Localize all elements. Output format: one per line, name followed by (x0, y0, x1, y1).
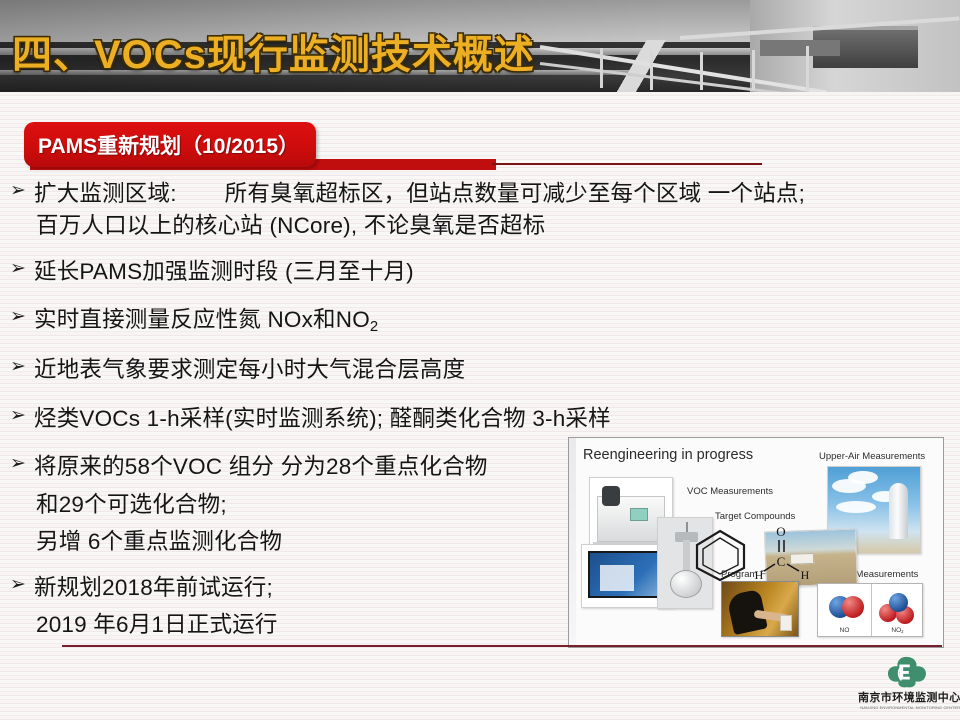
bullet-6-continuation-2: 另增 6个重点监测化合物 (0, 526, 282, 557)
nitrogen-atom (889, 593, 908, 612)
bullet-item-2: ➢ 延长PAMS加强监测时段 (三月至十月) (0, 256, 414, 287)
bullet-arrow-icon: ➢ (0, 572, 34, 598)
bullet-item-7: ➢ 新规划2018年前试运行; (0, 572, 273, 603)
embedded-title: Reengineering in progress (583, 447, 753, 463)
benzene-ring-icon (689, 528, 751, 582)
bullet-text-3: 实时直接测量反应性氮 NOx和NO2 (34, 304, 378, 335)
flexibility-vial (780, 615, 792, 631)
bullet-1-detail: 所有臭氧超标区，但站点数量可减少至每个区域 一个站点; (225, 181, 805, 206)
target-compound-structures: O C H H (687, 524, 817, 582)
footer-rule (62, 645, 942, 647)
bullet-7-continuation-1: 2019 年6月1日正式运行 (0, 609, 278, 640)
bullet-arrow-icon: ➢ (0, 256, 34, 282)
bullet-text-4: 近地表气象要求测定每小时大气混合层高度 (34, 354, 465, 385)
logo-name-cn: 南京市环境监测中心站 (858, 689, 954, 705)
bullet-text-7: 新规划2018年前试运行; (34, 572, 273, 603)
slide-canvas: 四、VOCs现行监测技术概述 PAMS重新规划（10/2015） ➢ 扩大监测区… (0, 0, 960, 720)
formaldehyde-c: C (777, 554, 786, 569)
bullet-arrow-icon: ➢ (0, 354, 34, 380)
embedded-label-upper-air: Upper-Air Measurements (819, 451, 925, 462)
bullet-arrow-icon: ➢ (0, 178, 34, 204)
cloud-shape (848, 471, 878, 484)
leaf-e-logo-icon (858, 655, 954, 689)
photo-program-flexibility (721, 581, 799, 637)
upper-air-profiler (889, 483, 908, 539)
formaldehyde-h-right: H (801, 568, 810, 580)
formaldehyde-h-left: H (755, 568, 764, 580)
bullet-item-4: ➢ 近地表气象要求测定每小时大气混合层高度 (0, 354, 465, 385)
page-title: 四、VOCs现行监测技术概述 (12, 22, 535, 80)
molecule-label-no2: NO2 (871, 627, 924, 634)
heading-badge-label: PAMS重新规划（10/2015） (24, 130, 299, 160)
gc-knob (602, 486, 620, 506)
section-heading: PAMS重新规划（10/2015） (0, 122, 960, 178)
formaldehyde-structure-icon: O C H H (753, 524, 817, 580)
embedded-slide-image: Reengineering in progress VOC Measuremen… (568, 437, 944, 648)
embedded-left-band (569, 438, 576, 647)
bullet-item-6: ➢ 将原来的58个VOC 组分 分为28个重点化合物 (0, 451, 488, 482)
bullet-1-label: 扩大监测区域: (34, 181, 177, 206)
formaldehyde-o: O (776, 524, 785, 539)
logo-name-en: NANJING ENVIRONMENTAL MONITORING CENTER (860, 705, 951, 710)
bullet-text-5: 烃类VOCs 1-h采样(实时监测系统); 醛酮类化合物 3-h采样 (34, 403, 611, 434)
bullet-3-main: 实时直接测量反应性氮 NOx和NO (34, 307, 370, 332)
molecule-label-no2-subscript: 2 (901, 629, 903, 634)
embedded-label-voc: VOC Measurements (687, 486, 773, 497)
molecule-label-no: NO (818, 627, 871, 634)
bullet-arrow-icon: ➢ (0, 304, 34, 330)
bullet-item-1: ➢ 扩大监测区域:所有臭氧超标区，但站点数量可减少至每个区域 一个站点; (0, 178, 805, 209)
gc-screen (630, 508, 648, 521)
heading-thin-rule (492, 163, 762, 165)
embedded-label-target-compounds: Target Compounds (715, 511, 795, 522)
bullet-arrow-icon: ➢ (0, 451, 34, 477)
bullet-text-1-line2: 百万人口以上的核心站 (NCore), 不论臭氧是否超标 (0, 210, 545, 241)
nitrogen-molecule-panel: NO NO2 (817, 583, 923, 637)
bullet-arrow-icon: ➢ (0, 403, 34, 429)
bullet-3-subscript: 2 (370, 319, 378, 335)
monitor-window (600, 565, 634, 591)
cloud-shape (836, 501, 876, 513)
bullet-6-continuation-1: 和29个可选化合物; (0, 489, 227, 520)
bullet-item-5: ➢ 烃类VOCs 1-h采样(实时监测系统); 醛酮类化合物 3-h采样 (0, 403, 611, 434)
organization-logo: 南京市环境监测中心站 NANJING ENVIRONMENTAL MONITOR… (858, 655, 954, 713)
heading-badge: PAMS重新规划（10/2015） (24, 122, 316, 167)
bullet-text-6: 将原来的58个VOC 组分 分为28个重点化合物 (34, 451, 488, 482)
bullet-text-1-line1: 扩大监测区域:所有臭氧超标区，但站点数量可减少至每个区域 一个站点; (34, 178, 805, 209)
molecule-label-no2-text: NO (891, 627, 901, 634)
bullet-item-3: ➢ 实时直接测量反应性氮 NOx和NO2 (0, 304, 378, 335)
bullet-text-2: 延长PAMS加强监测时段 (三月至十月) (34, 256, 414, 287)
oxygen-atom (842, 596, 864, 618)
